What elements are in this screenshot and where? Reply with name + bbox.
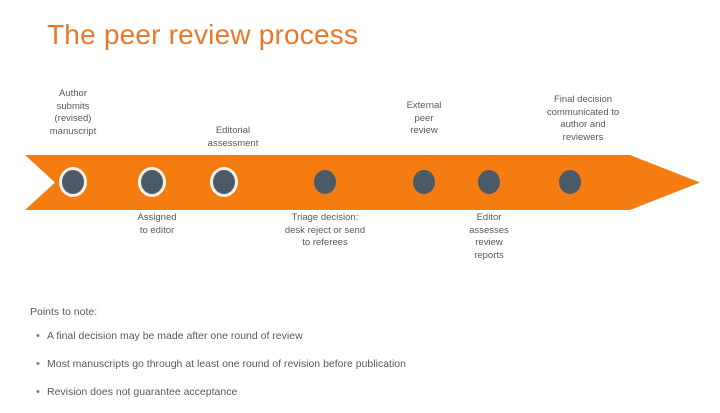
notes-heading: Points to note: <box>30 305 590 319</box>
slide-canvas: The peer review process Author submits (… <box>0 0 720 403</box>
milestone-marker-7[interactable] <box>559 170 581 194</box>
note-text: Most manuscripts go through at least one… <box>47 357 406 372</box>
stage-label-triage-decision: Triage decision: desk reject or send to … <box>250 212 400 250</box>
stage-label-final-decision: Final decision communicated to author an… <box>503 94 663 144</box>
milestone-marker-2[interactable] <box>141 170 163 194</box>
stage-label-external-peer-review: External peer review <box>369 100 479 138</box>
milestone-marker-6[interactable] <box>478 170 500 194</box>
points-to-note-section: Points to note: • A final decision may b… <box>30 305 590 413</box>
milestone-marker-3[interactable] <box>213 170 235 194</box>
list-item: • Revision does not guarantee acceptance <box>30 385 590 400</box>
note-text: A final decision may be made after one r… <box>47 329 303 344</box>
list-item: • Most manuscripts go through at least o… <box>30 357 590 372</box>
stage-label-author-submits: Author submits (revised) manuscript <box>18 88 128 138</box>
note-text: Revision does not guarantee acceptance <box>47 385 237 400</box>
process-arrow-graphic <box>25 155 700 210</box>
bullet-icon: • <box>30 357 47 372</box>
bullet-icon: • <box>30 329 47 344</box>
milestone-marker-4[interactable] <box>314 170 336 194</box>
milestone-marker-5[interactable] <box>413 170 435 194</box>
milestone-marker-1[interactable] <box>62 170 84 194</box>
stage-label-editorial-assessment: Editorial assessment <box>173 125 293 150</box>
bullet-icon: • <box>30 385 47 400</box>
stage-label-assigned-to-editor: Assigned to editor <box>97 212 217 237</box>
arrow-shape <box>25 155 700 210</box>
list-item: • A final decision may be made after one… <box>30 329 590 344</box>
page-title: The peer review process <box>47 18 358 52</box>
stage-label-editor-assesses-reports: Editor assesses review reports <box>434 212 544 262</box>
